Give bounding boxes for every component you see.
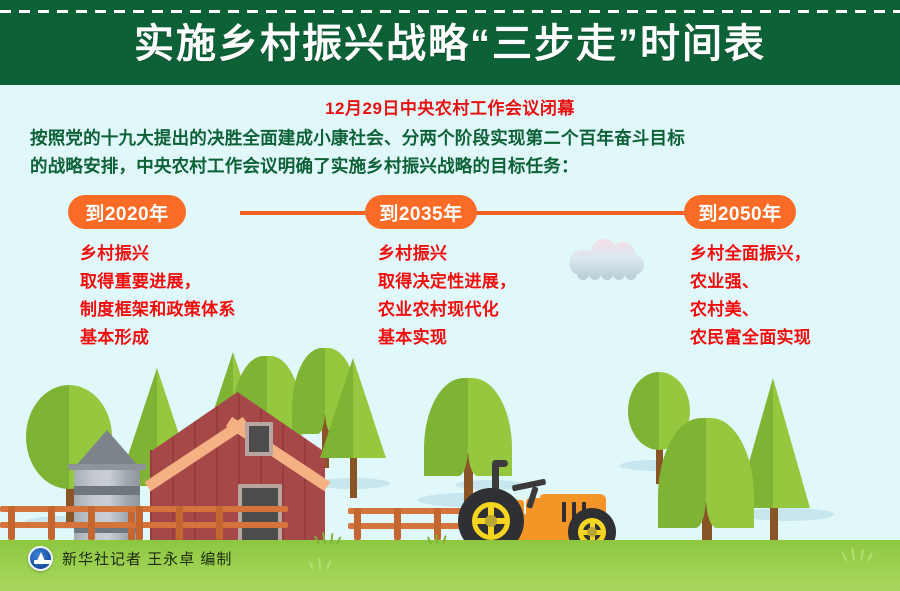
footer: 新华社记者 王永卓 编制 [0, 540, 900, 591]
fence-post [394, 508, 401, 540]
goal-line: 取得决定性进展， [378, 268, 628, 296]
goal-line: 乡村振兴 [378, 240, 628, 268]
silo-roof [74, 430, 140, 468]
tractor-exhaust-tip [492, 460, 508, 467]
fence-rail [128, 506, 288, 512]
goal-column-2050: 乡村全面振兴， 农业强、 农村美、 农民富全面实现 [690, 240, 900, 352]
tractor-vent [562, 502, 566, 522]
timeline-milestone-2020[interactable]: 到2020年 [68, 195, 186, 229]
goal-line: 农民富全面实现 [690, 324, 900, 352]
tree-crown-right [706, 418, 754, 528]
timeline-milestone-2050[interactable]: 到2050年 [684, 195, 796, 229]
tractor-steering-wheel [512, 479, 547, 492]
timeline-connector [455, 211, 685, 215]
barn-window [245, 422, 273, 456]
tree-crown-left [658, 418, 706, 528]
goal-column-2035: 乡村振兴 取得决定性进展， 农业农村现代化 基本实现 [378, 240, 628, 352]
fence-post [176, 506, 183, 540]
infographic-poster: 实施乡村振兴战略“三步走”时间表 12月29日中央农村工作会议闭幕 按照党的十九… [0, 0, 900, 591]
goal-line: 乡村振兴 [80, 240, 340, 268]
tree-crown-right [773, 378, 810, 508]
fence-post [136, 506, 143, 540]
goal-line: 基本实现 [378, 324, 628, 352]
fence-post [8, 506, 15, 540]
subtitle: 12月29日中央农村工作会议闭幕 [0, 94, 900, 119]
goal-column-2020: 乡村振兴 取得重要进展， 制度框架和政策体系 基本形成 [80, 240, 340, 352]
goal-line: 乡村全面振兴， [690, 240, 900, 268]
tree-cone [320, 358, 386, 498]
goal-line: 基本形成 [80, 324, 340, 352]
fence-post [354, 508, 361, 540]
tree-crown-left [26, 385, 69, 489]
timeline: 到2020年 到2035年 到2050年 [0, 195, 900, 231]
header-dashed-line [0, 10, 900, 13]
goal-line: 农业农村现代化 [378, 296, 628, 324]
fence-left-b [128, 506, 288, 540]
fence-post [48, 506, 55, 540]
timeline-milestone-2035[interactable]: 到2035年 [365, 195, 477, 229]
goal-line: 制度框架和政策体系 [80, 296, 340, 324]
intro-paragraph: 按照党的十九大提出的决胜全面建成小康社会、分两个阶段实现第二个百年奋斗目标 的战… [30, 124, 870, 180]
fence-post [88, 506, 95, 540]
timeline-connector [240, 211, 365, 215]
xinhua-logo-icon [28, 546, 53, 571]
goal-line: 农业强、 [690, 268, 900, 296]
goal-line: 取得重要进展， [80, 268, 340, 296]
goal-line: 农村美、 [690, 296, 900, 324]
intro-line: 的战略安排，中央农村工作会议明确了实施乡村振兴战略的目标任务： [30, 152, 870, 180]
tree-crown-left [628, 372, 659, 450]
fence-post [216, 506, 223, 540]
credit-block: 新华社记者 王永卓 编制 [28, 546, 232, 571]
tree-crown-left [320, 358, 353, 458]
silo-band [74, 486, 140, 495]
fence-rail [128, 522, 288, 528]
tree-crown-right [353, 358, 386, 458]
page-title: 实施乡村振兴战略“三步走”时间表 [0, 18, 900, 70]
intro-line: 按照党的十九大提出的决胜全面建成小康社会、分两个阶段实现第二个百年奋斗目标 [30, 124, 870, 152]
credit-text: 新华社记者 王永卓 编制 [62, 548, 232, 569]
